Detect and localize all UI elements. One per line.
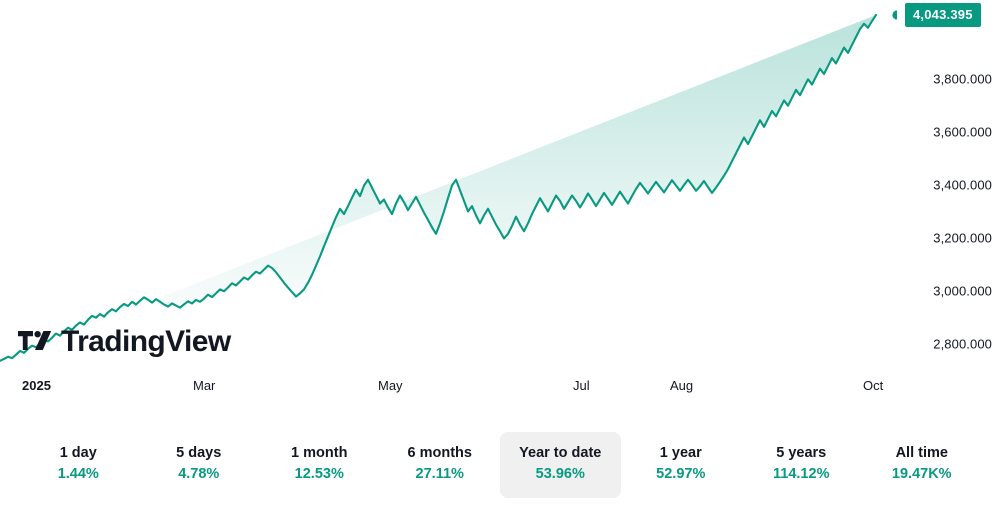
price-tick: 2,800.000 — [933, 336, 992, 351]
price-tick: 3,600.000 — [933, 125, 992, 140]
chart-region: TradingView 3,800.0003,600.0003,400.0003… — [0, 0, 1000, 370]
timeframe-button-1-month[interactable]: 1 month12.53% — [259, 432, 380, 498]
timeframe-label: 1 day — [22, 444, 135, 464]
timeframe-label: Year to date — [504, 444, 617, 464]
date-axis[interactable]: 2025MarMayJulAugOct — [0, 370, 1000, 404]
timeframe-button-5-years[interactable]: 5 years114.12% — [741, 432, 862, 498]
timeframe-change-value: 27.11% — [384, 465, 497, 485]
price-area-chart — [0, 0, 897, 370]
timeframe-label: 5 days — [143, 444, 256, 464]
date-tick: May — [378, 378, 403, 393]
timeframe-change-value: 4.78% — [143, 465, 256, 485]
timeframe-button-all-time[interactable]: All time19.47K% — [862, 432, 983, 498]
price-tick: 3,400.000 — [933, 178, 992, 193]
date-tick: 2025 — [22, 378, 51, 393]
timeframe-change-value: 1.44% — [22, 465, 135, 485]
price-tick: 3,200.000 — [933, 230, 992, 245]
timeframe-button-year-to-date[interactable]: Year to date53.96% — [500, 432, 621, 498]
timeframe-change-value: 52.97% — [625, 465, 738, 485]
timeframe-change-value: 12.53% — [263, 465, 376, 485]
timeframe-button-1-year[interactable]: 1 year52.97% — [621, 432, 742, 498]
price-tick: 3,800.000 — [933, 72, 992, 87]
timeframe-label: All time — [866, 444, 979, 464]
last-price-badge: 4,043.395 — [905, 3, 981, 27]
timeframe-label: 1 month — [263, 444, 376, 464]
timeframe-button-6-months[interactable]: 6 months27.11% — [380, 432, 501, 498]
timeframe-label: 1 year — [625, 444, 738, 464]
timeframe-change-value: 19.47K% — [866, 465, 979, 485]
price-axis[interactable]: 3,800.0003,600.0003,400.0003,200.0003,00… — [897, 0, 1000, 370]
timeframe-change-value: 53.96% — [504, 465, 617, 485]
timeframe-label: 6 months — [384, 444, 497, 464]
timeframe-performance-row: 1 day1.44%5 days4.78%1 month12.53%6 mont… — [0, 432, 1000, 502]
timeframe-button-1-day[interactable]: 1 day1.44% — [18, 432, 139, 498]
date-tick: Jul — [573, 378, 590, 393]
price-tick: 3,000.000 — [933, 283, 992, 298]
date-tick: Oct — [863, 378, 883, 393]
timeframe-change-value: 114.12% — [745, 465, 858, 485]
chart-plot-area[interactable] — [0, 0, 897, 370]
timeframe-button-5-days[interactable]: 5 days4.78% — [139, 432, 260, 498]
area-fill — [0, 15, 876, 361]
tradingview-chart-widget: TradingView 3,800.0003,600.0003,400.0003… — [0, 0, 1000, 514]
date-tick: Mar — [193, 378, 215, 393]
timeframe-label: 5 years — [745, 444, 858, 464]
date-tick: Aug — [670, 378, 693, 393]
